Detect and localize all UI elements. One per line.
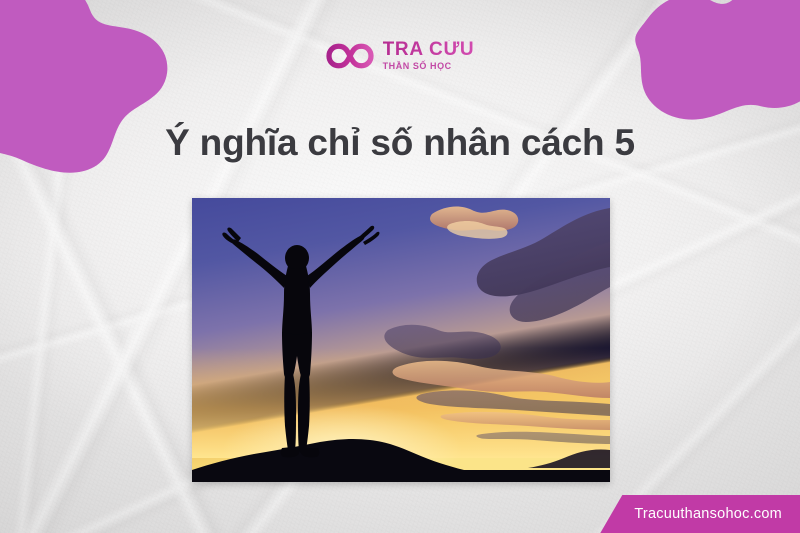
poster-canvas: TRA CỨU THẦN SỐ HỌC Ý nghĩa chỉ số nhân …: [0, 0, 800, 533]
page-title: Ý nghĩa chỉ số nhân cách 5: [0, 122, 800, 164]
logo-wordmark: TRA CỨU THẦN SỐ HỌC: [383, 40, 475, 71]
logo-title: TRA CỨU: [383, 40, 475, 59]
hero-image: [192, 198, 610, 482]
watermark-text: Tracuuthansohoc.com: [634, 506, 782, 522]
watermark-banner[interactable]: Tracuuthansohoc.com: [600, 495, 800, 533]
infinity-icon: [326, 41, 374, 71]
brand-logo[interactable]: TRA CỨU THẦN SỐ HỌC: [0, 40, 800, 71]
hero-image-frame: [192, 198, 610, 482]
logo-subtitle: THẦN SỐ HỌC: [383, 62, 452, 71]
